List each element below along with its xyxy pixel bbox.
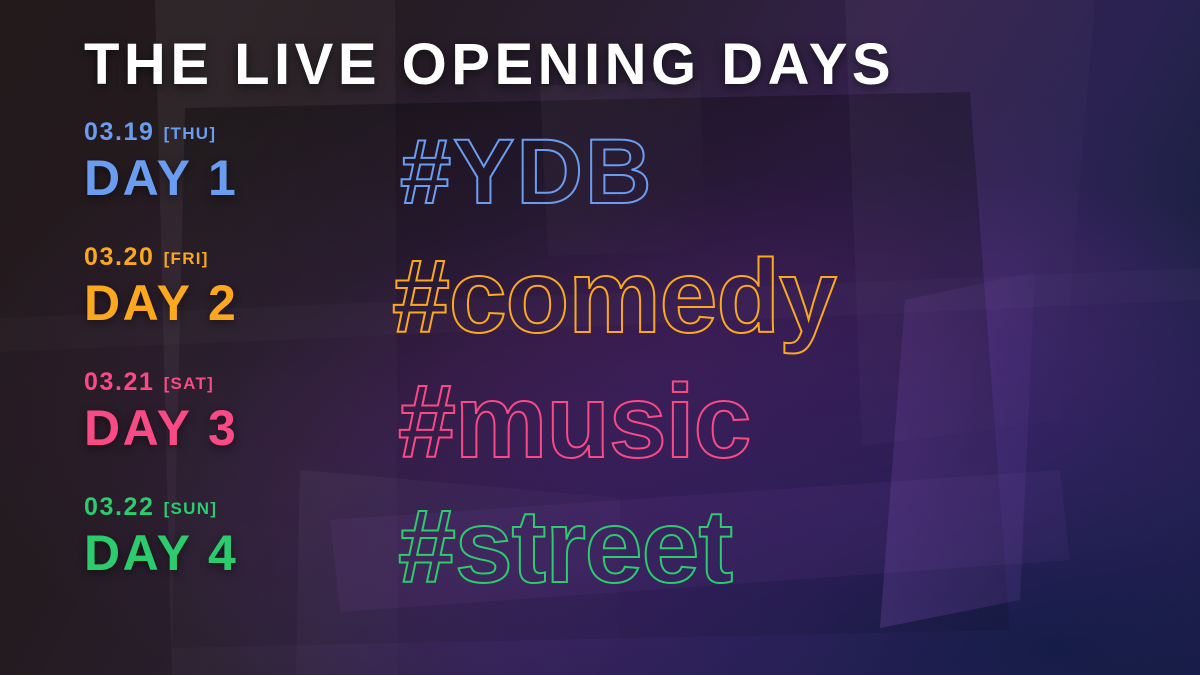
date-line: 03.20 [FRI] bbox=[84, 245, 384, 271]
hashtag-outline-4: #street bbox=[398, 495, 732, 599]
date-text: 03.19 bbox=[84, 120, 155, 145]
day-label: DAY 2 bbox=[84, 278, 384, 328]
hashtag-outline-3: #music bbox=[398, 370, 750, 474]
day-row: 03.21 [SAT] DAY 3 #music bbox=[0, 370, 1200, 495]
date-text: 03.22 bbox=[84, 495, 155, 520]
date-line: 03.21 [SAT] bbox=[84, 370, 384, 396]
day-left-block-3: 03.21 [SAT] DAY 3 bbox=[84, 370, 384, 453]
day-list: 03.19 [THU] DAY 1 #YDB 03.20 [FRI] DAY 2… bbox=[0, 120, 1200, 620]
date-line: 03.19 [THU] bbox=[84, 120, 384, 146]
date-line: 03.22 [SUN] bbox=[84, 495, 384, 521]
weekday-text: [SAT] bbox=[164, 375, 215, 392]
page-title: THE LIVE OPENING DAYS bbox=[84, 36, 895, 94]
weekday-text: [SUN] bbox=[164, 500, 218, 517]
day-label: DAY 4 bbox=[84, 528, 384, 578]
day-label: DAY 1 bbox=[84, 153, 384, 203]
day-row: 03.20 [FRI] DAY 2 #comedy bbox=[0, 245, 1200, 370]
day-left-block-1: 03.19 [THU] DAY 1 bbox=[84, 120, 384, 203]
poster-content: THE LIVE OPENING DAYS 03.19 [THU] DAY 1 … bbox=[0, 0, 1200, 675]
weekday-text: [THU] bbox=[164, 125, 217, 142]
poster-canvas: THE LIVE OPENING DAYS 03.19 [THU] DAY 1 … bbox=[0, 0, 1200, 675]
day-row: 03.19 [THU] DAY 1 #YDB bbox=[0, 120, 1200, 245]
hashtag-outline-1: #YDB bbox=[400, 126, 653, 218]
date-text: 03.21 bbox=[84, 370, 155, 395]
date-text: 03.20 bbox=[84, 245, 155, 270]
hashtag-outline-2: #comedy bbox=[392, 245, 836, 349]
day-row: 03.22 [SUN] DAY 4 #street bbox=[0, 495, 1200, 620]
day-left-block-4: 03.22 [SUN] DAY 4 bbox=[84, 495, 384, 578]
weekday-text: [FRI] bbox=[164, 250, 209, 267]
day-label: DAY 3 bbox=[84, 403, 384, 453]
day-left-block-2: 03.20 [FRI] DAY 2 bbox=[84, 245, 384, 328]
